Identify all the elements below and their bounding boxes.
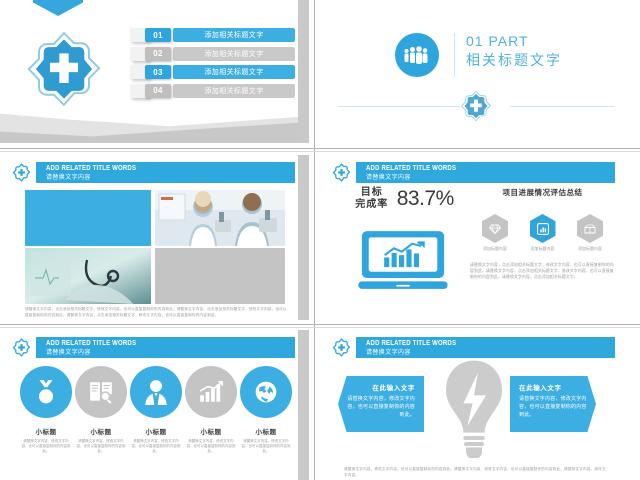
slide-header: ADD RELATED TITLE WORDS 请替换文字内容 (0, 162, 309, 183)
kpi-label: 目标 完成率 (355, 187, 388, 211)
list-item[interactable]: 03 添加相关标题文字 (130, 65, 295, 79)
photo-tile-gray[interactable] (155, 248, 285, 304)
medical-clover-icon (460, 90, 492, 122)
lightbulb-icon (440, 358, 508, 458)
circle-text: 请替换文字内容，修改文字内容，也可以直接复制你的内容到此。 (75, 439, 127, 454)
hex-item[interactable]: 添加标题内容 (571, 214, 609, 252)
slide-cover[interactable]: 01 添加相关标题文字 02 添加相关标题文字 03 添加相关标题文字 04 添… (0, 0, 309, 143)
hex-label: 添加标题内容 (524, 247, 562, 252)
list-item[interactable]: 小标题 请替换文字内容，修改文字内容，也可以直接复制你的内容到此。 (130, 366, 182, 454)
section-title: 01 PART 相关标题文字 (466, 32, 562, 70)
photo-tile-surgery[interactable] (25, 248, 151, 304)
photo-tile-blue[interactable] (25, 190, 151, 246)
row-number: 03 (145, 65, 171, 79)
slide-photo-grid[interactable]: ADD RELATED TITLE WORDS 请替换文字内容 (0, 155, 309, 320)
header-title-en: ADD RELATED TITLE WORDS (46, 339, 295, 348)
header-title-en: ADD RELATED TITLE WORDS (366, 164, 615, 173)
globe-icon (240, 366, 292, 418)
slide-section-divider[interactable]: 01 PART 相关标题文字 (320, 0, 629, 143)
circle-text: 请替换文字内容，修改文字内容，也可以直接复制你的内容到此。 (240, 439, 292, 454)
list-item[interactable]: 小标题 请替换文字内容，修改文字内容，也可以直接复制你的内容到此。 (20, 366, 72, 454)
slide-header: ADD RELATED TITLE WORDS 请替换文字内容 (320, 162, 629, 183)
header-title-cn: 请替换文字内容 (366, 349, 615, 358)
circle-title: 小标题 (75, 426, 127, 436)
row-label: 添加相关标题文字 (173, 65, 295, 79)
pentagon-banner-shape (33, 0, 83, 16)
book-search-icon (75, 366, 127, 418)
row-label: 添加相关标题文字 (173, 84, 295, 98)
kpi-body-text: 请替换文字内容，点击添加相关标题文字，修改文字内容，也可以直接复制你的内容到此。… (470, 262, 615, 280)
growth-chart-icon (185, 366, 237, 418)
header-title-cn: 请替换文字内容 (46, 174, 295, 183)
slide-header-bar: ADD RELATED TITLE WORDS 请替换文字内容 (356, 337, 615, 358)
medical-clover-icon (12, 338, 31, 357)
circle-text: 请替换文字内容，修改文字内容，也可以直接复制你的内容到此。 (185, 439, 237, 454)
bar-chart-icon (530, 214, 556, 243)
circle-text: 请替换文字内容，修改文字内容，也可以直接复制你的内容到此。 (20, 439, 72, 454)
slide-caption: 请替换文字内容，修改文字内容，也可以直接复制你的内容到此。请替换文字内容，修改文… (344, 467, 606, 478)
slide-header: ADD RELATED TITLE WORDS 请替换文字内容 (0, 337, 309, 358)
slide-header-bar: ADD RELATED TITLE WORDS 请替换文字内容 (36, 162, 295, 183)
row-divider-1b (0, 151, 640, 152)
row-divider-1 (0, 148, 640, 149)
circle-title: 小标题 (240, 426, 292, 436)
list-item[interactable]: 01 添加相关标题文字 (130, 28, 295, 42)
photo-tile-lab[interactable] (155, 190, 285, 246)
header-title-en: ADD RELATED TITLE WORDS (366, 339, 615, 348)
medal-icon (20, 366, 72, 418)
slide-lightbulb[interactable]: ADD RELATED TITLE WORDS 请替换文字内容 在此输入文字 请… (320, 330, 629, 480)
slide-thumbnail-grid: 01 添加相关标题文字 02 添加相关标题文字 03 添加相关标题文字 04 添… (0, 0, 640, 480)
callout-text: 请替换文字内容，修改文字内容，也可以直接复制你的内容到此。 (347, 395, 415, 419)
medical-clover-icon (12, 163, 31, 182)
row-divider-2 (0, 324, 640, 325)
circle-title: 小标题 (185, 426, 237, 436)
list-item[interactable]: 小标题 请替换文字内容，修改文字内容，也可以直接复制你的内容到此。 (240, 366, 292, 454)
laptop-bar-chart-icon (357, 230, 449, 290)
box-icon (577, 214, 603, 243)
hex-item[interactable]: 添加标题内容 (476, 214, 514, 252)
slide-header-bar: ADD RELATED TITLE WORDS 请替换文字内容 (356, 162, 615, 183)
hex-icon-row: 添加标题内容 添加标题内容 添加标题内容 (476, 214, 609, 252)
kpi-summary-heading: 项目进展情况评估总结 (470, 187, 615, 198)
kpi-summary: 项目进展情况评估总结 添加标题内容 添加标题内容 (470, 187, 615, 280)
row-number: 02 (145, 47, 171, 61)
title-divider (454, 33, 455, 77)
group-people-icon (395, 33, 439, 77)
list-item[interactable]: 04 添加相关标题文字 (130, 84, 295, 98)
circle-text: 请替换文字内容，修改文字内容，也可以直接复制你的内容到此。 (130, 439, 182, 454)
callout-left[interactable]: 在此输入文字 请替换文字内容，修改文字内容，也可以直接复制你的内容到此。 (338, 376, 424, 432)
list-item[interactable]: 小标题 请替换文字内容，修改文字内容，也可以直接复制你的内容到此。 (185, 366, 237, 454)
list-item[interactable]: 02 添加相关标题文字 (130, 47, 295, 61)
kpi-value: 83.7% (397, 187, 454, 211)
divider-line-left (338, 106, 460, 107)
callout-heading: 在此输入文字 (519, 382, 587, 392)
slide-header: ADD RELATED TITLE WORDS 请替换文字内容 (320, 337, 629, 358)
header-title-en: ADD RELATED TITLE WORDS (46, 164, 295, 173)
hex-label: 添加标题内容 (571, 247, 609, 252)
section-title-cn: 相关标题文字 (466, 51, 562, 70)
slide-five-circles[interactable]: ADD RELATED TITLE WORDS 请替换文字内容 小标题 请替换文… (0, 330, 309, 480)
row-number: 01 (145, 28, 171, 42)
header-title-cn: 请替换文字内容 (366, 174, 615, 183)
hex-item[interactable]: 添加标题内容 (524, 214, 562, 252)
callout-text: 请替换文字内容，修改文字内容，也可以直接复制你的内容到此。 (519, 395, 587, 419)
row-label: 添加相关标题文字 (173, 47, 295, 61)
row-number: 04 (145, 84, 171, 98)
person-icon (130, 366, 182, 418)
diamond-icon (482, 214, 508, 243)
medical-clover-icon (332, 338, 351, 357)
hex-label: 添加标题内容 (476, 247, 514, 252)
header-title-cn: 请替换文字内容 (46, 349, 295, 358)
vertical-divider (314, 0, 315, 480)
callout-heading: 在此输入文字 (347, 382, 415, 392)
numbered-title-list: 01 添加相关标题文字 02 添加相关标题文字 03 添加相关标题文字 04 添… (130, 28, 295, 102)
slide-header-bar: ADD RELATED TITLE WORDS 请替换文字内容 (36, 337, 295, 358)
kpi-label-line2: 完成率 (355, 199, 388, 210)
medical-clover-icon (25, 30, 103, 108)
kpi-label-line1: 目标 (361, 187, 383, 198)
row-label: 添加相关标题文字 (173, 28, 295, 42)
medical-clover-icon (332, 163, 351, 182)
circle-title: 小标题 (130, 426, 182, 436)
divider-line-right (510, 106, 615, 107)
list-item[interactable]: 小标题 请替换文字内容，修改文字内容，也可以直接复制你的内容到此。 (75, 366, 127, 454)
kpi-metric: 目标 完成率 83.7% (342, 187, 467, 211)
circle-icon-row: 小标题 请替换文字内容，修改文字内容，也可以直接复制你的内容到此。 小标题 请替… (20, 366, 292, 454)
slide-caption: 请替换文字内容，点击添加相关标题文字，修改文字内容，也可以直接复制你的内容到此。… (25, 307, 287, 318)
callout-right[interactable]: 在此输入文字 请替换文字内容，修改文字内容，也可以直接复制你的内容到此。 (510, 376, 596, 432)
slide-kpi[interactable]: ADD RELATED TITLE WORDS 请替换文字内容 目标 完成率 8… (320, 155, 629, 320)
section-title-en: 01 PART (466, 32, 562, 51)
row-divider-2b (0, 327, 640, 328)
circle-title: 小标题 (20, 426, 72, 436)
